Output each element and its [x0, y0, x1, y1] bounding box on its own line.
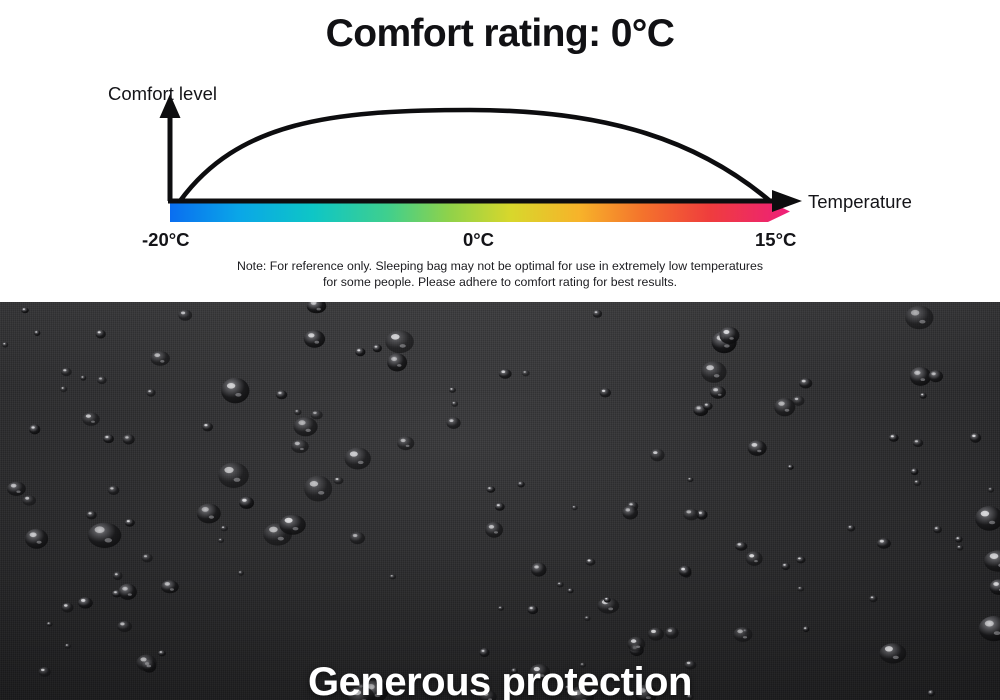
comfort-rating-section: Comfort rating: 0°C [0, 0, 1000, 302]
comfort-curve-chart: Comfort level Temperature -20°C 0°C 15°C [0, 70, 1000, 255]
comfort-curve [180, 110, 770, 201]
generous-protection-section: Generous protection Waterproof outer cov… [0, 302, 1000, 700]
tick-label-min: -20°C [142, 229, 190, 250]
infographic-page: Comfort rating: 0°C [0, 0, 1000, 700]
temperature-gradient-bar [170, 201, 790, 222]
tick-label-max: 15°C [755, 229, 796, 250]
chart-note: Note: For reference only. Sleeping bag m… [0, 258, 1000, 290]
chart-note-line-1: Note: For reference only. Sleeping bag m… [0, 258, 1000, 274]
x-axis-label: Temperature [808, 191, 912, 212]
tick-label-mid: 0°C [463, 229, 494, 250]
protection-heading: Generous protection [0, 660, 1000, 700]
chart-note-line-2: for some people. Please adhere to comfor… [0, 274, 1000, 290]
water-droplets-overlay [0, 302, 1000, 700]
y-axis-label: Comfort level [108, 83, 217, 104]
x-axis-arrow-icon [772, 190, 802, 212]
page-title: Comfort rating: 0°C [0, 12, 1000, 56]
